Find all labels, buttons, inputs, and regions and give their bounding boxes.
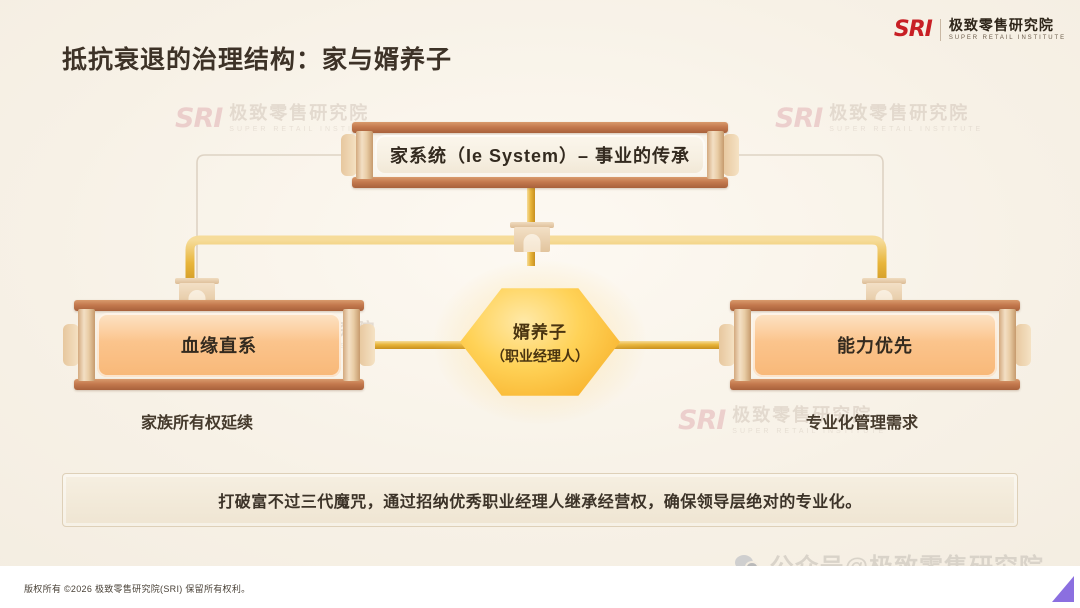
plaque-face: 能力优先 [753, 313, 997, 377]
plaque-cornice-bottom [74, 379, 364, 390]
outline-path-right [739, 155, 883, 285]
plaque-pillar-right [999, 309, 1016, 381]
summary-bar: 打破富不过三代魔咒，通过招纳优秀职业经理人继承经营权，确保领导层绝对的专业化。 [62, 473, 1018, 527]
node-ie-system[interactable]: 家系统（Ie System）– 事业的传承 [352, 122, 728, 188]
plaque-pillar-left [734, 309, 751, 381]
plaque-face: 家系统（Ie System）– 事业的传承 [375, 135, 705, 175]
summary-text: 打破富不过三代魔咒，通过招纳优秀职业经理人继承经营权，确保领导层绝对的专业化。 [218, 488, 862, 512]
node-bloodline[interactable]: 血缘直系 [74, 300, 364, 390]
hexagon-sublabel: （职业经理人） [491, 346, 589, 366]
pedestal-arch [524, 234, 541, 252]
node-label: 血缘直系 [181, 332, 257, 358]
plaque-pillar-right [707, 131, 724, 179]
copyright-text: 版权所有 ©2026 极致零售研究院(SRI) 保留所有权利。 [24, 582, 250, 595]
plaque-knob-right [359, 324, 375, 366]
hexagon-label: 婿养子 [513, 318, 567, 343]
node-adopted-son-in-law[interactable]: 婿养子 （职业经理人） [460, 286, 620, 398]
node-capability[interactable]: 能力优先 [730, 300, 1020, 390]
plaque-cornice-top [730, 300, 1020, 311]
pedestal-center [510, 222, 554, 252]
plaque-cornice-bottom [730, 379, 1020, 390]
plaque-face: 血缘直系 [97, 313, 341, 377]
footer-band: 版权所有 ©2026 极致零售研究院(SRI) 保留所有权利。 [0, 566, 1080, 608]
caption-left: 家族所有权延续 [141, 409, 253, 433]
plaque-cornice-bottom [352, 177, 728, 188]
plaque-knob-right [723, 134, 739, 176]
node-label: 能力优先 [837, 332, 913, 358]
corner-triangle-accent [1052, 576, 1074, 602]
plaque-cornice-top [352, 122, 728, 133]
plaque-pillar-right [343, 309, 360, 381]
plaque-knob-right [1015, 324, 1031, 366]
outline-path-left [197, 155, 341, 285]
plaque-cornice-top [74, 300, 364, 311]
plaque-pillar-left [78, 309, 95, 381]
slide-canvas: 抵抗衰退的治理结构：家与婿养子 SRI 极致零售研究院 SUPER RETAIL… [0, 0, 1080, 608]
plaque-knob-left [341, 134, 357, 176]
plaque-knob-left [63, 324, 79, 366]
plaque-pillar-left [356, 131, 373, 179]
caption-right: 专业化管理需求 [806, 409, 918, 433]
plaque-knob-left [719, 324, 735, 366]
node-label: 家系统（Ie System）– 事业的传承 [390, 142, 690, 168]
